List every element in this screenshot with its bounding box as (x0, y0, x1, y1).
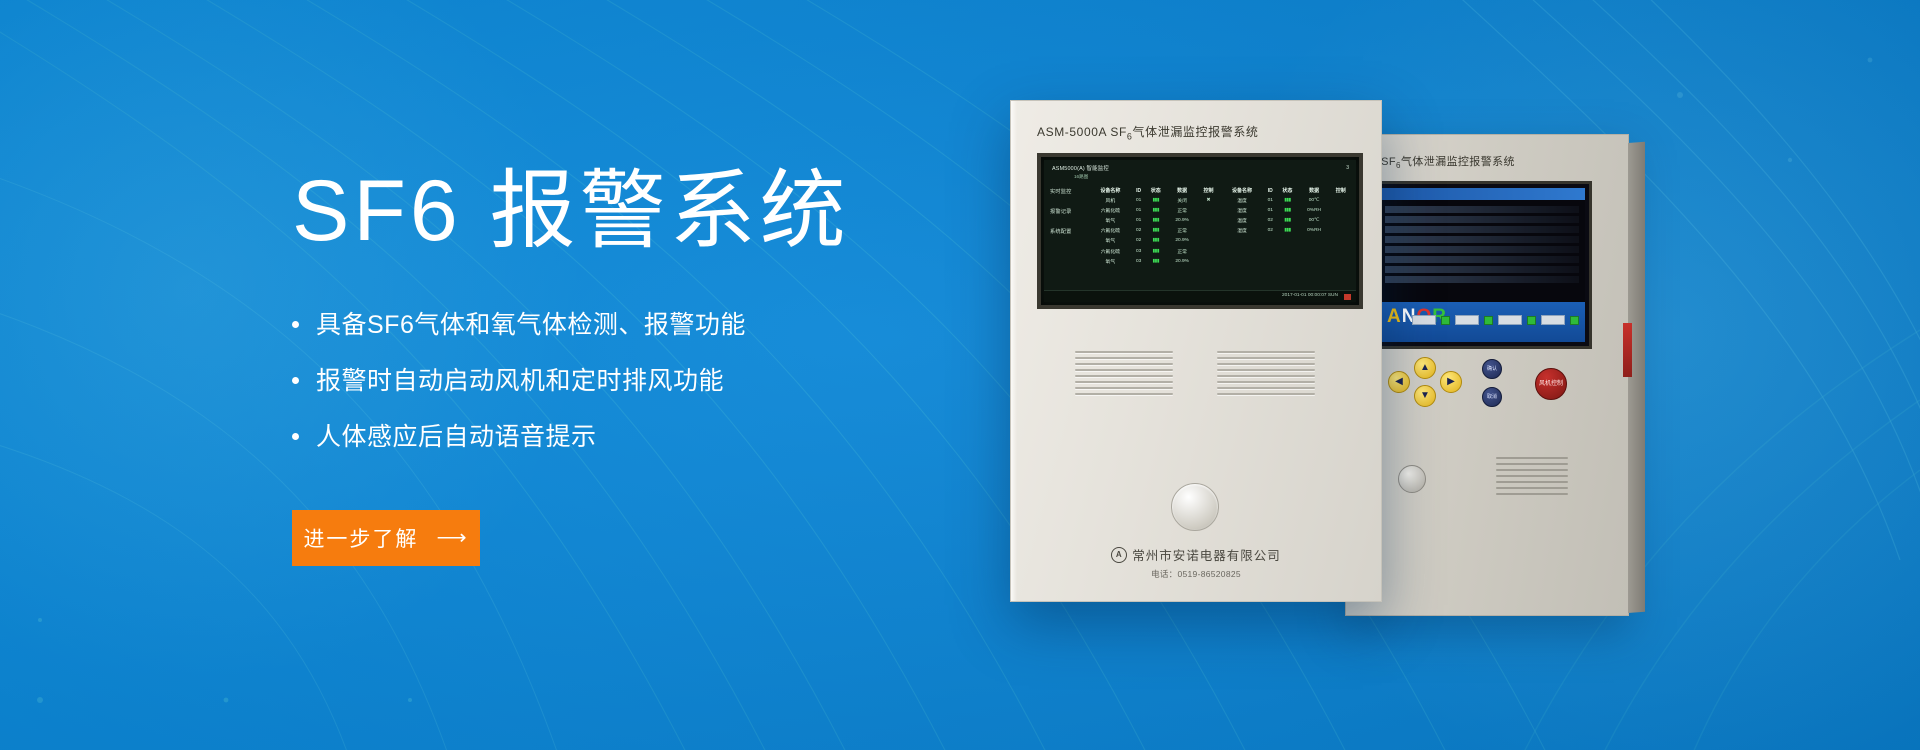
cell-id: 01 (1264, 205, 1276, 215)
lcd-page-number: 3 (1346, 165, 1349, 171)
cell-data: 正常 (1167, 205, 1197, 215)
hero-copy: SF6 报警系统 具备SF6气体和氧气体检测、报警功能 报警时自动启动风机和定时… (292, 168, 1012, 566)
cell-device-name: 湿度 (1220, 205, 1265, 215)
cell-status (1276, 246, 1298, 256)
feature-list: 具备SF6气体和氧气体检测、报警功能 报警时自动启动风机和定时排风功能 人体感应… (292, 310, 1012, 452)
cell-id (1264, 246, 1276, 256)
cell-data: 正常 (1167, 246, 1197, 256)
keypad-left-button[interactable]: ◀ (1388, 371, 1410, 393)
cell-data: 00℃ (1299, 215, 1330, 225)
cell-data: 20.9% (1167, 236, 1197, 246)
cell-device-name: 六氟化硫 (1088, 205, 1133, 215)
device-front-speaker-vents (1075, 351, 1315, 407)
lcd-status-bar: 2017-01-01 00:00:07 SUN (1044, 290, 1356, 302)
cell-control (1197, 205, 1219, 215)
device-front-motion-sensor (1171, 483, 1219, 531)
company-logo-icon: A (1111, 547, 1127, 563)
learn-more-label: 进一步了解 (303, 523, 418, 553)
col-data-2: 数据 (1299, 186, 1330, 195)
cell-device-name: 温度 (1220, 195, 1265, 205)
table-row: 六氟化硫01▮▮▮正常湿度01▮▮▮0%RH (1088, 205, 1352, 215)
col-id-1: ID (1133, 186, 1145, 195)
cell-device-name: 风机 (1088, 195, 1133, 205)
cell-control (1330, 226, 1352, 236)
cell-data: 0%RH (1299, 226, 1330, 236)
cell-status (1276, 236, 1298, 246)
learn-more-button[interactable]: 进一步了解 ⟶ (292, 510, 480, 566)
speaker-vent-left (1075, 351, 1173, 407)
device-front-lcd-screen: ASM5000(A) 智能监控 16路图 3 实时监控 报警记录 系统配置 设备… (1037, 153, 1363, 309)
table-row: 风机01▮▮▮关闭✖温度01▮▮▮00℃ (1088, 195, 1352, 205)
cell-status: ▮▮▮ (1276, 195, 1298, 205)
company-phone: 电话：0519-86520825 (1011, 568, 1381, 580)
lcd-subheader: 16路图 (1074, 174, 1088, 180)
cell-control (1330, 236, 1352, 246)
device-front-branding: A 常州市安诺电器有限公司 电话：0519-86520825 (1011, 545, 1381, 580)
cell-id: 01 (1133, 215, 1145, 225)
col-control-2: 控制 (1330, 186, 1352, 195)
cell-status: ▮▮▮ (1276, 226, 1298, 236)
lcd-status-indicator-icon (1344, 294, 1351, 300)
cell-control (1330, 215, 1352, 225)
lcd-timestamp: 2017-01-01 00:00:07 SUN (1282, 293, 1338, 298)
cell-control (1330, 205, 1352, 215)
cell-data: 20.9% (1167, 215, 1197, 225)
feature-text: 人体感应后自动语音提示 (316, 422, 597, 452)
col-id-2: ID (1264, 186, 1276, 195)
cell-id: 02 (1264, 215, 1276, 225)
cell-id (1264, 236, 1276, 246)
cell-status: ▮▮▮ (1276, 205, 1298, 215)
keypad-cancel-button[interactable]: 取消 (1482, 387, 1502, 407)
table-row: 六氟化硫03▮▮▮正常 (1088, 246, 1352, 256)
device-back-screen-grid (1385, 206, 1579, 294)
cell-control (1197, 236, 1219, 246)
cell-device-name: 氧气 (1088, 236, 1133, 246)
feature-text: 报警时自动启动风机和定时排风功能 (316, 366, 724, 396)
cell-device-name (1220, 256, 1265, 266)
cell-device-name: 六氟化硫 (1088, 226, 1133, 236)
table-row: 氧气02▮▮▮20.9% (1088, 236, 1352, 246)
bullet-dot-icon (292, 433, 299, 440)
device-back-screen: ANOR (1372, 181, 1592, 349)
cell-id: 03 (1133, 246, 1145, 256)
fan-control-button[interactable]: 风机控制 (1535, 368, 1567, 400)
device-back-unit: 0 B SF6气体泄漏监控报警系统 ANOR (1345, 134, 1629, 616)
cell-id: 02 (1133, 226, 1145, 236)
cell-status (1276, 256, 1298, 266)
cell-device-name (1220, 236, 1265, 246)
company-name: 常州市安诺电器有限公司 (1132, 545, 1281, 564)
cell-data: 0%RH (1299, 205, 1330, 215)
cell-device-name (1220, 246, 1265, 256)
cell-device-name: 氧气 (1088, 256, 1133, 266)
device-back-keypad: ▲ ▼ ◀ ▶ 确认 取消 风机控制 (1370, 357, 1590, 409)
device-front-edge-highlight (1011, 101, 1017, 601)
cell-device-name: 六氟化硫 (1088, 246, 1133, 256)
cell-status: ▮▮▮ (1145, 236, 1167, 246)
cell-id: 01 (1264, 195, 1276, 205)
col-data-1: 数据 (1167, 186, 1197, 195)
cell-status: ▮▮▮ (1276, 215, 1298, 225)
device-back-panel-title: 0 B SF6气体泄漏监控报警系统 (1360, 153, 1618, 170)
device-back-speaker-vent (1496, 457, 1568, 499)
product-image-group: 0 B SF6气体泄漏监控报警系统 ANOR (1010, 100, 1910, 660)
lcd-monitor-table: 设备名称 ID 状态 数据 控制 设备名称 ID 状态 数据 控制 (1088, 186, 1352, 266)
feature-text: 具备SF6气体和氧气体检测、报警功能 (316, 310, 746, 340)
cell-data: 关闭 (1167, 195, 1197, 205)
bullet-dot-icon (292, 377, 299, 384)
col-device-name-2: 设备名称 (1220, 186, 1265, 195)
cell-status: ▮▮▮ (1145, 226, 1167, 236)
cell-data: 20.9% (1167, 256, 1197, 266)
col-device-name-1: 设备名称 (1088, 186, 1133, 195)
cell-status: ▮▮▮ (1145, 215, 1167, 225)
lcd-sidebar: 实时监控 报警记录 系统配置 (1050, 188, 1084, 248)
table-row: 六氟化硫02▮▮▮正常湿度02▮▮▮0%RH (1088, 226, 1352, 236)
device-front-title-main: ASM-5000A SF (1037, 125, 1127, 139)
cell-status: ▮▮▮ (1145, 246, 1167, 256)
cell-device-name: 氧气 (1088, 215, 1133, 225)
device-back-red-strip (1623, 323, 1632, 377)
cell-control (1330, 256, 1352, 266)
cell-status: ▮▮▮ (1145, 205, 1167, 215)
col-status-1: 状态 (1145, 186, 1167, 195)
cell-control (1197, 246, 1219, 256)
device-back-motion-sensor (1398, 465, 1426, 493)
cell-id: 02 (1133, 236, 1145, 246)
arrow-right-icon: ⟶ (436, 527, 468, 548)
list-item: 人体感应后自动语音提示 (292, 422, 1012, 452)
cell-id (1264, 256, 1276, 266)
sidebar-item-alarm-log[interactable]: 报警记录 (1050, 208, 1084, 215)
list-item: 报警时自动启动风机和定时排风功能 (292, 366, 1012, 396)
keypad-right-button[interactable]: ▶ (1440, 371, 1462, 393)
table-header-row: 设备名称 ID 状态 数据 控制 设备名称 ID 状态 数据 控制 (1088, 186, 1352, 195)
col-status-2: 状态 (1276, 186, 1298, 195)
keypad-down-button[interactable]: ▼ (1414, 385, 1436, 407)
table-row: 氧气03▮▮▮20.9% (1088, 256, 1352, 266)
cell-control (1197, 226, 1219, 236)
device-back-screen-content: ANOR (1379, 188, 1585, 342)
speaker-vent-right (1217, 351, 1315, 407)
cell-id: 01 (1133, 195, 1145, 205)
lcd-table-body: 风机01▮▮▮关闭✖温度01▮▮▮00℃六氟化硫01▮▮▮正常湿度01▮▮▮0%… (1088, 195, 1352, 266)
device-back-screen-tabs (1412, 315, 1579, 325)
cell-status: ▮▮▮ (1145, 256, 1167, 266)
sidebar-item-realtime[interactable]: 实时监控 (1050, 188, 1084, 195)
table-row: 氧气01▮▮▮20.9%温度02▮▮▮00℃ (1088, 215, 1352, 225)
cell-data: 正常 (1167, 226, 1197, 236)
cell-control (1197, 256, 1219, 266)
device-back-side-panel (1628, 142, 1645, 613)
cell-data (1299, 246, 1330, 256)
cell-control (1330, 195, 1352, 205)
keypad-up-button[interactable]: ▲ (1414, 357, 1436, 379)
bullet-dot-icon (292, 321, 299, 328)
keypad-confirm-button[interactable]: 确认 (1482, 359, 1502, 379)
sidebar-item-system-config[interactable]: 系统配置 (1050, 228, 1084, 235)
device-back-title-rest: 气体泄漏监控报警系统 (1401, 156, 1515, 168)
device-back-screen-topbar (1379, 188, 1585, 200)
cell-control: ✖ (1197, 195, 1219, 205)
cell-control (1197, 215, 1219, 225)
lcd-header: ASM5000(A) 智能监控 (1052, 164, 1109, 172)
cell-device-name: 湿度 (1220, 226, 1265, 236)
device-front-unit: ASM-5000A SF6气体泄漏监控报警系统 ASM5000(A) 智能监控 … (1010, 100, 1382, 602)
col-control-1: 控制 (1197, 186, 1219, 195)
cell-id: 03 (1133, 256, 1145, 266)
cell-data (1299, 256, 1330, 266)
device-front-panel-title: ASM-5000A SF6气体泄漏监控报警系统 (1037, 123, 1259, 141)
lcd-content: ASM5000(A) 智能监控 16路图 3 实时监控 报警记录 系统配置 设备… (1044, 160, 1356, 302)
page-title: SF6 报警系统 (292, 168, 1012, 256)
cell-data: 00℃ (1299, 195, 1330, 205)
cell-id: 01 (1133, 205, 1145, 215)
cell-device-name: 温度 (1220, 215, 1265, 225)
device-front-title-rest: 气体泄漏监控报警系统 (1133, 125, 1259, 139)
cell-id: 02 (1264, 226, 1276, 236)
list-item: 具备SF6气体和氧气体检测、报警功能 (292, 310, 1012, 340)
cell-status: ▮▮▮ (1145, 195, 1167, 205)
cell-control (1330, 246, 1352, 256)
hero-banner: SF6 报警系统 具备SF6气体和氧气体检测、报警功能 报警时自动启动风机和定时… (0, 0, 1920, 750)
cell-data (1299, 236, 1330, 246)
